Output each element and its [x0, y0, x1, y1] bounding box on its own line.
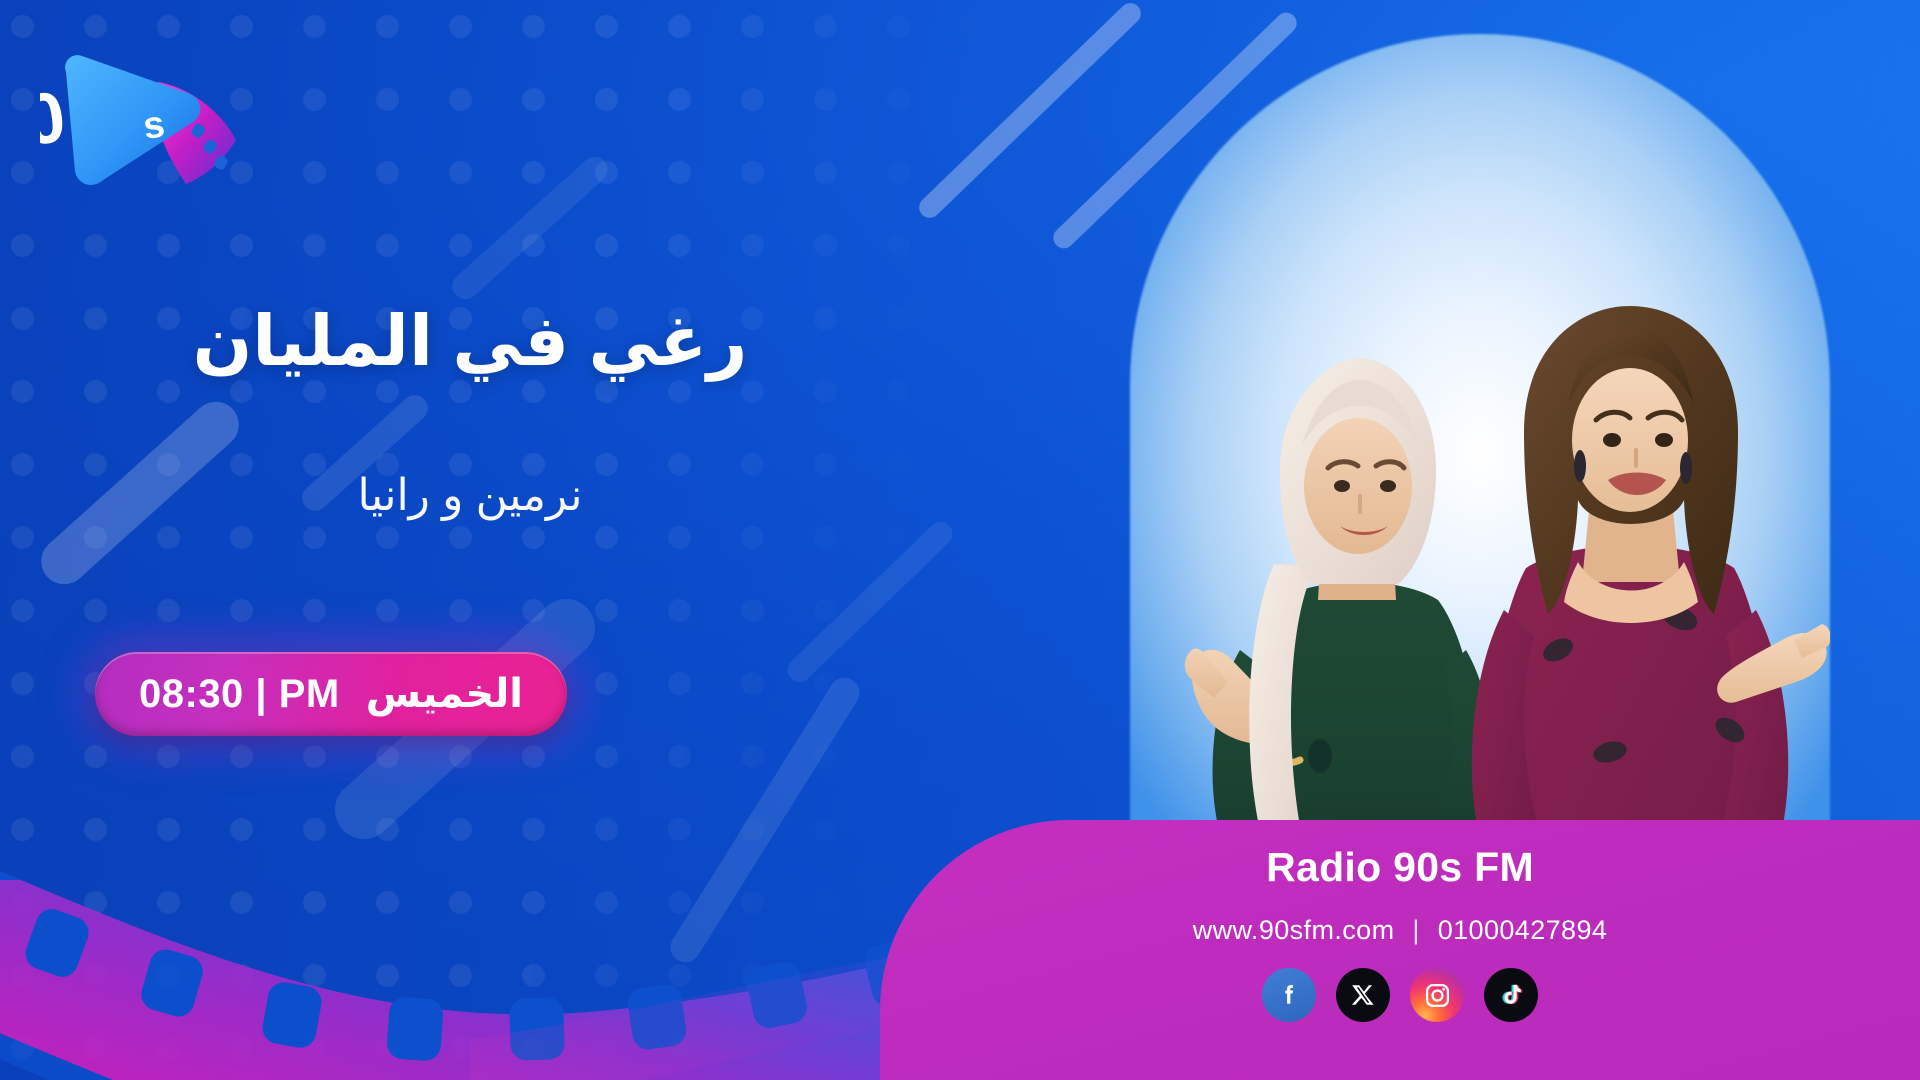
- website-text[interactable]: www.90sfm.com: [1193, 915, 1395, 945]
- phone-text[interactable]: 01000427894: [1438, 915, 1608, 945]
- program-copy: رغي في المليان نرمين و رانيا: [0, 0, 980, 1080]
- schedule-day: الخميس: [366, 671, 523, 717]
- x-glyph: [1350, 982, 1376, 1008]
- program-hosts: نرمين و رانيا: [0, 470, 980, 521]
- contact-line: www.90sfm.com | 01000427894: [1193, 915, 1608, 946]
- x-twitter-icon[interactable]: [1336, 968, 1390, 1022]
- contact-separator: |: [1402, 915, 1429, 945]
- schedule-badge[interactable]: الخميس 08:30 | PM: [95, 652, 567, 736]
- schedule-time: 08:30 | PM: [139, 672, 340, 717]
- social-links: [1262, 968, 1538, 1022]
- tiktok-icon[interactable]: [1484, 968, 1538, 1022]
- station-footer-panel: Radio 90s FM www.90sfm.com | 01000427894: [880, 820, 1920, 1080]
- station-name: Radio 90s FM: [1266, 844, 1534, 891]
- schedule-badge-wrapper: الخميس 08:30 | PM: [95, 652, 567, 736]
- facebook-glyph: [1274, 980, 1304, 1010]
- instagram-icon[interactable]: [1410, 968, 1464, 1022]
- facebook-icon[interactable]: [1262, 968, 1316, 1022]
- tiktok-glyph: [1498, 982, 1525, 1009]
- instagram-glyph: [1423, 981, 1452, 1010]
- program-title: رغي في المليان: [0, 300, 980, 382]
- promo-banner: 90 s: [0, 0, 1920, 1080]
